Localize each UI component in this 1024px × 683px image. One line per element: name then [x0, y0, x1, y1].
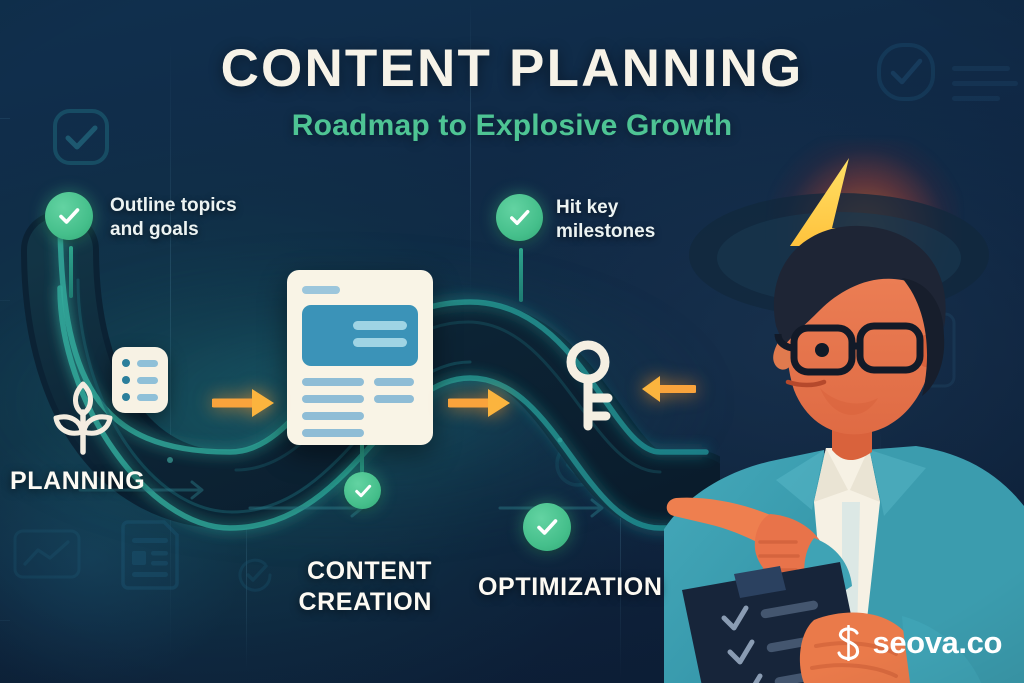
decor-dashline	[0, 620, 620, 621]
checkmark-glyph	[533, 513, 561, 541]
sprout-icon	[48, 378, 118, 461]
person-with-clipboard	[664, 150, 1024, 683]
seova-s-monogram-icon	[834, 625, 864, 661]
bullet-dot	[122, 393, 130, 401]
infographic-canvas: CONTENT PLANNING Roadmap to Explosive Gr…	[0, 0, 1024, 683]
check-circle-icon[interactable]	[496, 194, 543, 241]
bullet-dot	[122, 376, 130, 384]
flow-arrow-1	[212, 384, 278, 422]
stage-label-planning: PLANNING	[10, 466, 145, 497]
doc-hero-line	[353, 321, 407, 330]
annotation-line-1: Hit key	[556, 196, 655, 220]
annotation-line-1: Outline topics	[110, 194, 237, 218]
flow-arrow-2	[448, 384, 514, 422]
doc-hero-block	[302, 305, 418, 366]
check-circle-icon[interactable]	[523, 503, 571, 551]
stage-label-optimization: OPTIMIZATION	[478, 572, 663, 603]
check-circle-icon[interactable]	[344, 472, 381, 509]
stage-label-line-2: CREATION	[200, 587, 432, 618]
check-circle-icon[interactable]	[45, 192, 93, 240]
checkmark-glyph	[55, 202, 83, 230]
list-bar	[137, 377, 158, 384]
checklist-card-icon	[112, 347, 168, 413]
annotation-stem-right	[519, 248, 523, 302]
doc-line	[302, 395, 364, 403]
stage-label-line-1: CONTENT	[200, 556, 432, 587]
bullet-dot	[122, 359, 130, 367]
doc-line	[374, 378, 414, 386]
annotation-outline-topics: Outline topics and goals	[110, 194, 237, 243]
annotation-line-2: milestones	[556, 220, 655, 244]
list-bar	[137, 394, 158, 401]
key-icon	[562, 340, 620, 437]
doc-body-lines	[302, 378, 418, 437]
annotation-line-2: and goals	[110, 218, 237, 242]
list-bar	[137, 360, 158, 367]
stage-label-content-creation: CONTENT CREATION	[200, 556, 432, 617]
list-item	[122, 359, 158, 367]
doc-line	[374, 395, 414, 403]
list-item	[122, 393, 158, 401]
page-title: CONTENT PLANNING	[0, 38, 1024, 99]
brand-logo[interactable]: seova.co	[834, 625, 1003, 661]
doc-line	[302, 412, 364, 420]
document-card-icon	[287, 270, 433, 445]
logo-wordmark: seova.co	[873, 625, 1003, 661]
annotation-stem-left	[69, 246, 73, 298]
page-subtitle: Roadmap to Explosive Growth	[0, 109, 1024, 143]
doc-hero-line	[353, 338, 407, 347]
header-block: CONTENT PLANNING Roadmap to Explosive Gr…	[0, 38, 1024, 143]
doc-line	[302, 378, 364, 386]
checkmark-glyph	[352, 480, 374, 502]
flow-arrow-3	[640, 372, 696, 406]
doc-line	[302, 429, 364, 437]
list-item	[122, 376, 158, 384]
doc-tab-bar	[302, 286, 340, 294]
eye	[815, 343, 829, 357]
annotation-hit-milestones: Hit key milestones	[556, 196, 655, 245]
checkmark-glyph	[506, 204, 533, 231]
